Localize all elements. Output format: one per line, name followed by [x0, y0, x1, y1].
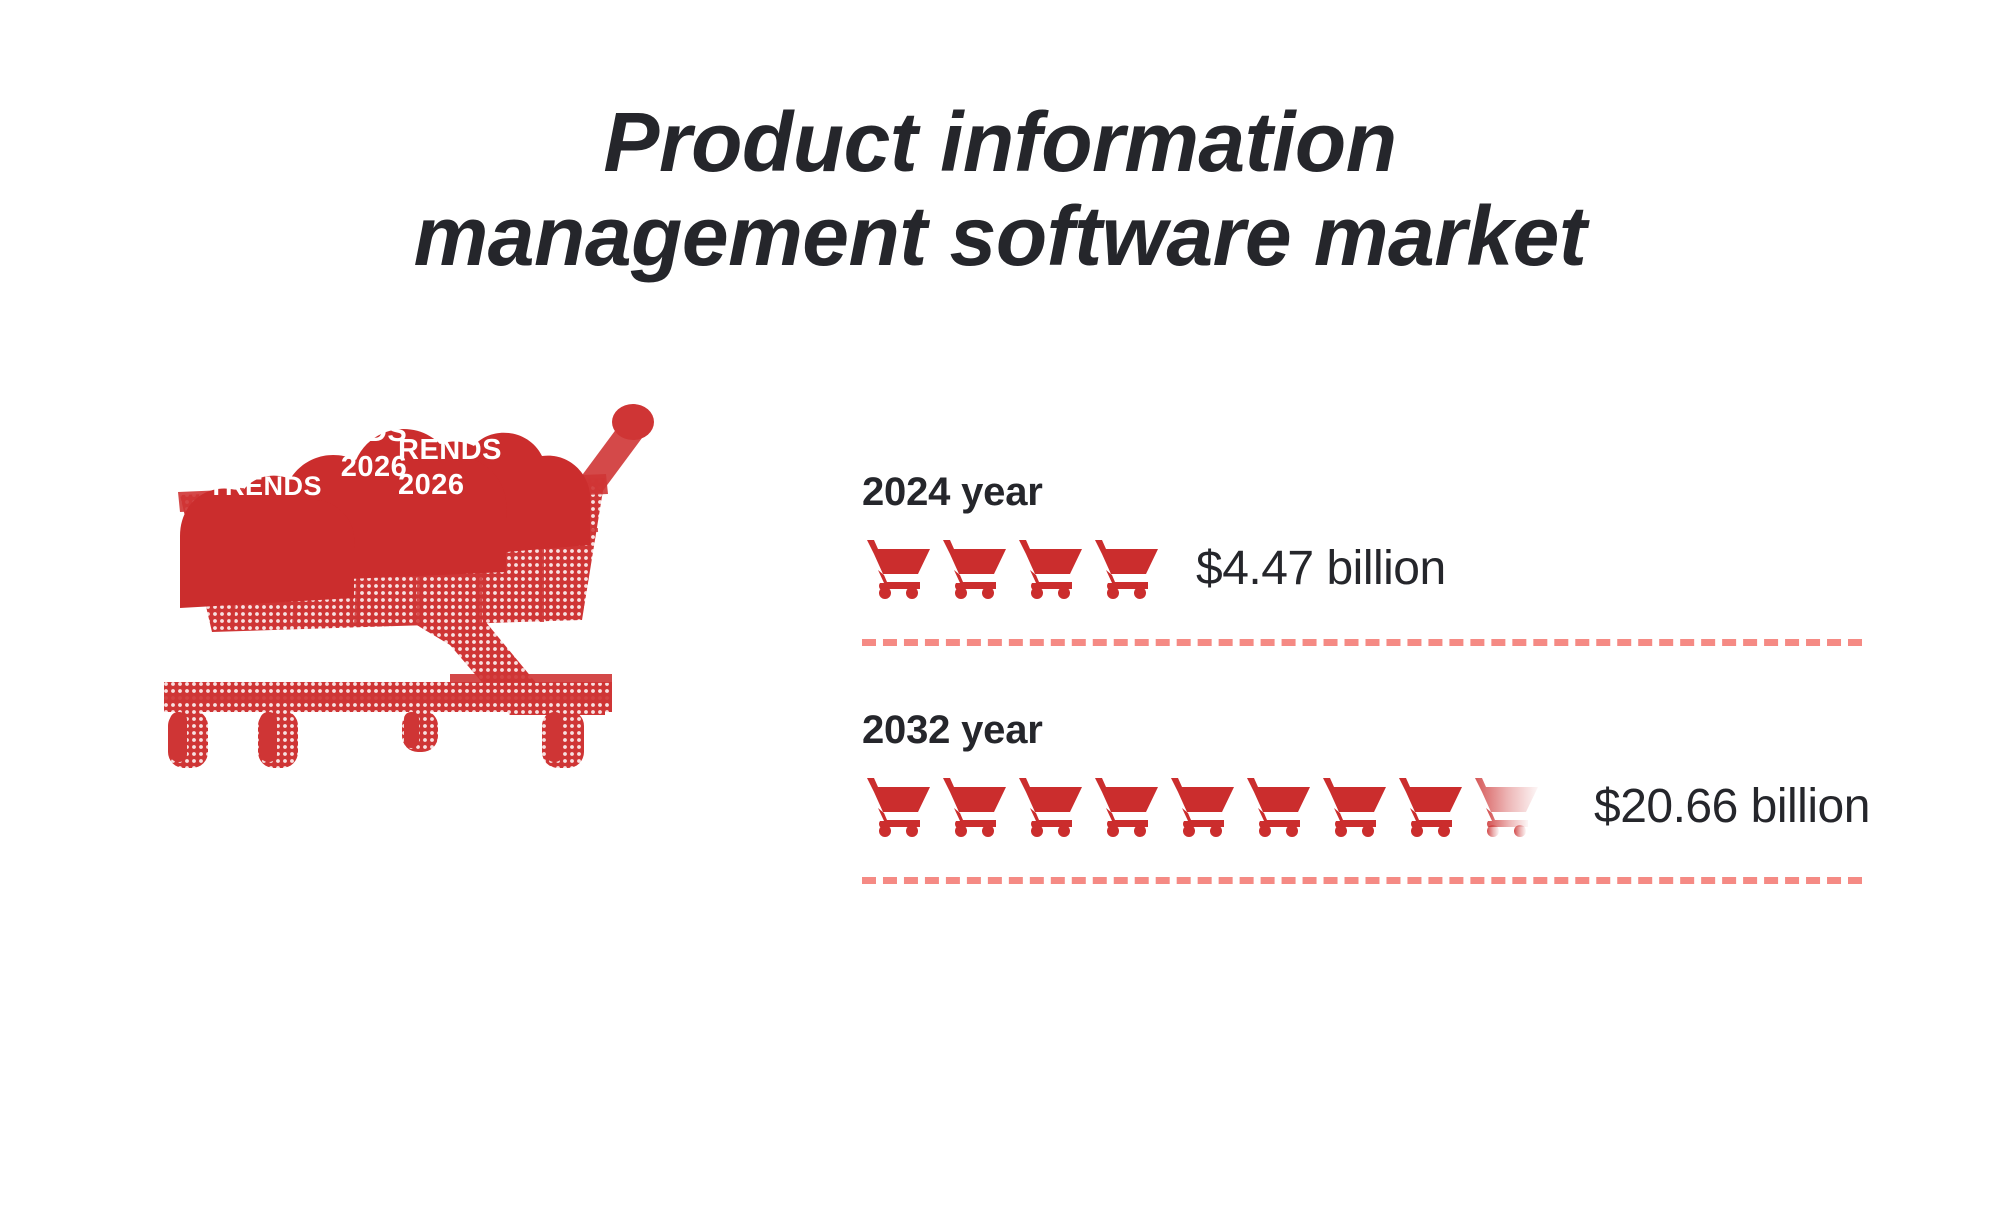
trend-badges: RENDS 2026 TRENDS 2026 TRENDS [150, 360, 670, 830]
cart-icon [1470, 775, 1546, 837]
cart-icon [1090, 775, 1166, 837]
cart-icon [1090, 537, 1166, 599]
value-label-2032: $20.66 billion [1594, 779, 1870, 834]
cart-icon [938, 537, 1014, 599]
year-label-2024: 2024 year [862, 470, 1862, 515]
divider-2032 [862, 877, 1862, 884]
cart-pictogram-2024 [862, 537, 1166, 599]
cart-icon [1014, 537, 1090, 599]
cart-icon [1242, 775, 1318, 837]
trend-badge-shapes [150, 360, 670, 830]
infographic-canvas: Product information management software … [0, 0, 2000, 1225]
cart-pictogram-2032 [862, 775, 1546, 837]
page-title: Product information management software … [0, 95, 2000, 283]
row-spacer [862, 646, 1862, 708]
cart-icon [1014, 775, 1090, 837]
cart-icon [1166, 775, 1242, 837]
trend-badge-1-line1: TRENDS [208, 471, 322, 501]
trend-badge-2-line1: TRENDS [285, 416, 407, 448]
year-label-2032: 2032 year [862, 708, 1862, 753]
cart-icon [1394, 775, 1470, 837]
market-row-2024: 2024 year $4.47 billion [862, 470, 1862, 646]
cart-icon [938, 775, 1014, 837]
divider-2024 [862, 639, 1862, 646]
market-figures-panel: 2024 year $4.47 billion 2032 year $20.66… [862, 470, 1862, 884]
cart-icon [1318, 775, 1394, 837]
trend-badge-3-line2: 2026 [398, 469, 465, 501]
trend-badge-3-line1: RENDS [398, 434, 502, 466]
shopping-cart-illustration: RENDS 2026 TRENDS 2026 TRENDS [150, 360, 670, 830]
value-label-2024: $4.47 billion [1196, 541, 1446, 596]
cart-icon [862, 537, 938, 599]
title-line-1: Product information [0, 95, 2000, 189]
market-row-2032: 2032 year $20.66 billion [862, 708, 1862, 884]
trend-badge-2-line2: 2026 [341, 451, 408, 483]
title-line-2: management software market [0, 189, 2000, 283]
trend-badge-3-text: RENDS 2026 [398, 433, 502, 504]
trend-badge-1-text: TRENDS [208, 470, 322, 503]
cart-icon [862, 775, 938, 837]
